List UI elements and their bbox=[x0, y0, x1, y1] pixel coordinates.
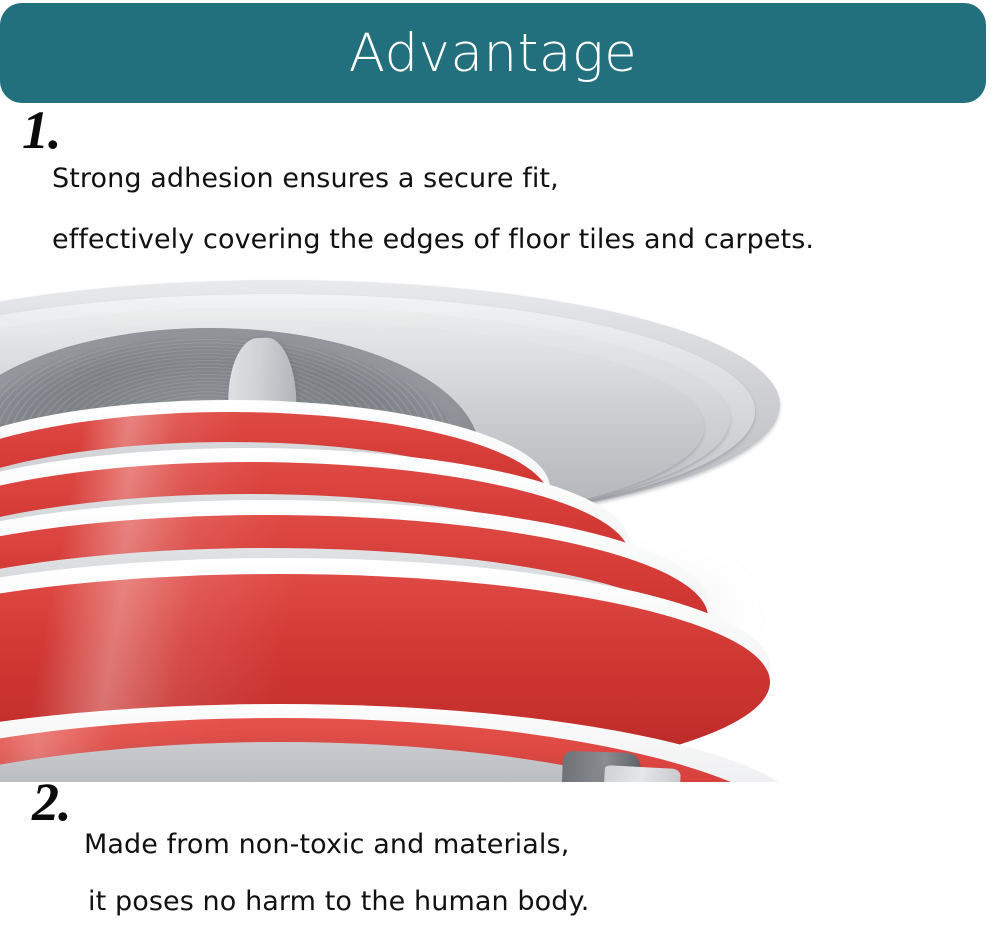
coil-upper-clip bbox=[0, 272, 1000, 782]
product-photo bbox=[0, 272, 1000, 782]
advantage-1-marker: 1. bbox=[22, 103, 61, 157]
advantage-2-line-2: it poses no harm to the human body. bbox=[88, 888, 589, 915]
advantage-2-line-1: Made from non-toxic and materials, bbox=[84, 831, 569, 858]
strip-free-end bbox=[595, 765, 681, 782]
header-banner: Advantage bbox=[0, 3, 986, 103]
advantage-2-marker: 2. bbox=[32, 775, 71, 829]
page-title: Advantage bbox=[0, 3, 986, 103]
advantage-1-line-2: effectively covering the edges of floor … bbox=[52, 226, 814, 253]
advantage-1-line-1: Strong adhesion ensures a secure fit, bbox=[52, 165, 559, 192]
